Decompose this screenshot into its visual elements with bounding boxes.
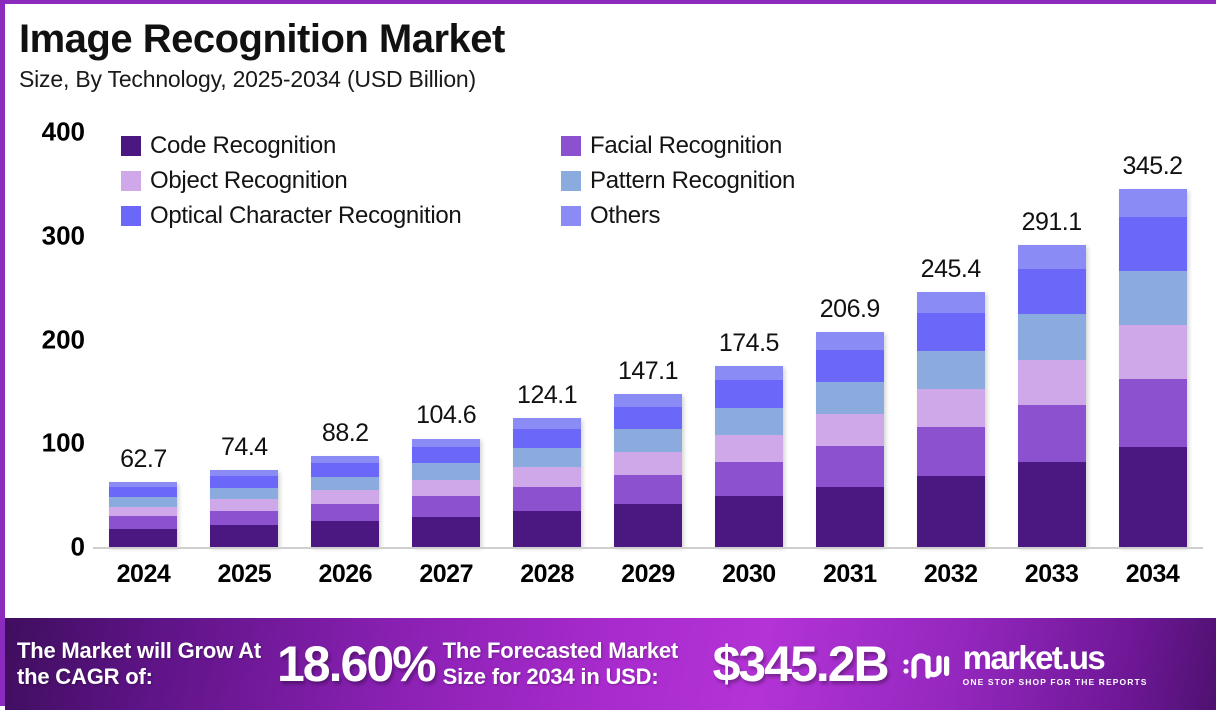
- bar-group[interactable]: 104.6: [397, 132, 496, 547]
- bar-segment[interactable]: [513, 448, 581, 467]
- chart-header: Image Recognition Market Size, By Techno…: [19, 18, 505, 93]
- chart-subtitle: Size, By Technology, 2025-2034 (USD Bill…: [19, 66, 505, 93]
- bar-segment[interactable]: [1018, 462, 1086, 547]
- bar-group[interactable]: 291.1: [1002, 132, 1101, 547]
- x-axis-tick-label: 2033: [1002, 560, 1101, 596]
- bar-total-label: 74.4: [221, 433, 268, 462]
- summary-banner: The Market will Grow At the CAGR of: 18.…: [5, 618, 1216, 710]
- bar-segment[interactable]: [614, 452, 682, 475]
- bar-stack[interactable]: [210, 470, 278, 547]
- bar-segment[interactable]: [816, 446, 884, 487]
- bar-group[interactable]: 245.4: [901, 132, 1000, 547]
- bar-stack[interactable]: [109, 482, 177, 547]
- bar-stack[interactable]: [412, 438, 480, 547]
- bar-segment[interactable]: [917, 427, 985, 475]
- bar-total-label: 124.1: [517, 381, 577, 410]
- bar-segment[interactable]: [917, 313, 985, 351]
- bar-segment[interactable]: [1119, 189, 1187, 218]
- bar-total-label: 206.9: [820, 295, 880, 324]
- bar-segment[interactable]: [513, 467, 581, 486]
- forecast-size-caption: The Forecasted Market Size for 2034 in U…: [443, 638, 711, 690]
- bar-stack[interactable]: [614, 394, 682, 547]
- x-axis: 2024202520262027202820292030203120322033…: [93, 560, 1203, 596]
- bar-segment[interactable]: [917, 351, 985, 389]
- bar-total-label: 62.7: [120, 445, 167, 474]
- bar-segment[interactable]: [816, 382, 884, 414]
- bar-segment[interactable]: [210, 511, 278, 526]
- bar-segment[interactable]: [513, 487, 581, 511]
- bar-segment[interactable]: [311, 456, 379, 463]
- bar-segment[interactable]: [1119, 379, 1187, 447]
- bar-total-label: 104.6: [416, 401, 476, 430]
- bar-segment[interactable]: [311, 477, 379, 491]
- bar-segment[interactable]: [412, 439, 480, 448]
- bar-group[interactable]: 62.7: [94, 132, 193, 547]
- bar-segment[interactable]: [513, 429, 581, 448]
- bar-segment[interactable]: [210, 499, 278, 511]
- bar-segment[interactable]: [614, 504, 682, 547]
- chart-frame: Image Recognition Market Size, By Techno…: [0, 0, 1216, 706]
- bar-group[interactable]: 206.9: [800, 132, 899, 547]
- bar-stack[interactable]: [816, 332, 884, 547]
- x-axis-tick-label: 2024: [94, 560, 193, 596]
- bar-segment[interactable]: [917, 389, 985, 427]
- bar-segment[interactable]: [1119, 447, 1187, 547]
- bar-total-label: 174.5: [719, 329, 779, 358]
- bar-segment[interactable]: [1018, 405, 1086, 462]
- brand-text: market.us ONE STOP SHOP FOR THE REPORTS: [963, 641, 1148, 687]
- y-axis-tick-label: 0: [71, 532, 85, 563]
- bar-segment[interactable]: [816, 332, 884, 349]
- y-axis-tick-label: 200: [42, 324, 85, 355]
- bar-segment[interactable]: [816, 350, 884, 382]
- bar-segment[interactable]: [715, 435, 783, 462]
- bar-segment[interactable]: [715, 462, 783, 496]
- bar-stack[interactable]: [917, 292, 985, 547]
- bar-segment[interactable]: [1018, 245, 1086, 269]
- x-axis-tick-label: 2026: [296, 560, 395, 596]
- bar-segment[interactable]: [412, 447, 480, 463]
- bar-group[interactable]: 124.1: [498, 132, 597, 547]
- x-axis-tick-label: 2032: [901, 560, 1000, 596]
- bar-segment[interactable]: [1119, 325, 1187, 379]
- bar-segment[interactable]: [614, 429, 682, 452]
- page-title: Image Recognition Market: [19, 18, 505, 60]
- x-axis-tick-label: 2029: [598, 560, 697, 596]
- bar-segment[interactable]: [311, 504, 379, 521]
- bar-stack[interactable]: [311, 456, 379, 548]
- bar-group[interactable]: 174.5: [699, 132, 798, 547]
- bar-segment[interactable]: [412, 463, 480, 479]
- bar-total-label: 291.1: [1022, 208, 1082, 237]
- bar-stack[interactable]: [513, 418, 581, 547]
- cagr-value: 18.60%: [277, 635, 435, 693]
- bar-segment[interactable]: [109, 529, 177, 547]
- brand-tagline: ONE STOP SHOP FOR THE REPORTS: [963, 677, 1148, 687]
- bar-segment[interactable]: [109, 487, 177, 497]
- bar-segment[interactable]: [614, 475, 682, 504]
- brand-logo: market.us ONE STOP SHOP FOR THE REPORTS: [902, 641, 1148, 687]
- x-axis-tick-label: 2027: [397, 560, 496, 596]
- bar-segment[interactable]: [412, 517, 480, 547]
- bar-segment[interactable]: [614, 394, 682, 406]
- y-axis-tick-label: 100: [42, 428, 85, 459]
- x-axis-tick-label: 2031: [800, 560, 899, 596]
- bar-segment[interactable]: [1119, 271, 1187, 325]
- bar-total-label: 88.2: [322, 419, 369, 448]
- bar-group[interactable]: 147.1: [598, 132, 697, 547]
- bar-segment[interactable]: [816, 414, 884, 446]
- bar-segment[interactable]: [210, 476, 278, 488]
- x-axis-tick-label: 2034: [1103, 560, 1202, 596]
- bar-segment[interactable]: [412, 480, 480, 496]
- bar-group[interactable]: 345.2: [1103, 132, 1202, 547]
- bar-segment[interactable]: [715, 408, 783, 435]
- bar-segment[interactable]: [109, 507, 177, 517]
- bar-segment[interactable]: [109, 516, 177, 528]
- x-axis-tick-label: 2030: [699, 560, 798, 596]
- bar-segment[interactable]: [311, 521, 379, 547]
- bar-segment[interactable]: [917, 476, 985, 547]
- bar-stack[interactable]: [715, 366, 783, 547]
- bar-total-label: 147.1: [618, 357, 678, 386]
- bar-group[interactable]: 88.2: [296, 132, 395, 547]
- bar-segment[interactable]: [513, 418, 581, 428]
- bar-stack[interactable]: [1119, 189, 1187, 547]
- bar-total-label: 345.2: [1122, 152, 1182, 181]
- bar-segment[interactable]: [109, 497, 177, 507]
- bar-stack[interactable]: [1018, 245, 1086, 547]
- y-axis-tick-label: 400: [42, 117, 85, 148]
- brand-name: market.us: [963, 641, 1148, 674]
- bar-segment[interactable]: [715, 380, 783, 407]
- bar-segment[interactable]: [715, 496, 783, 547]
- bar-segment[interactable]: [1119, 217, 1187, 271]
- bar-segment[interactable]: [614, 407, 682, 430]
- x-axis-line: [93, 547, 1203, 549]
- bar-segment[interactable]: [1018, 269, 1086, 314]
- y-axis-tick-label: 300: [42, 220, 85, 251]
- forecast-size-value: $345.2B: [713, 635, 888, 693]
- bar-segment[interactable]: [311, 490, 379, 504]
- market-us-logo-icon: [902, 646, 954, 682]
- bar-segment[interactable]: [210, 488, 278, 500]
- bar-segment[interactable]: [816, 487, 884, 547]
- bar-total-label: 245.4: [921, 255, 981, 284]
- bar-series-container: 62.774.488.2104.6124.1147.1174.5206.9245…: [93, 132, 1203, 547]
- bar-segment[interactable]: [1018, 314, 1086, 359]
- y-axis: 0100200300400: [15, 132, 85, 549]
- bar-segment[interactable]: [1018, 360, 1086, 405]
- x-axis-tick-label: 2025: [195, 560, 294, 596]
- bar-segment[interactable]: [311, 463, 379, 477]
- bar-segment[interactable]: [917, 292, 985, 312]
- bar-segment[interactable]: [513, 511, 581, 547]
- bar-segment[interactable]: [715, 366, 783, 380]
- bar-segment[interactable]: [210, 525, 278, 547]
- bar-segment[interactable]: [412, 496, 480, 517]
- plot-area: 62.774.488.2104.6124.1147.1174.5206.9245…: [93, 132, 1203, 549]
- cagr-caption: The Market will Grow At the CAGR of:: [17, 638, 275, 690]
- x-axis-tick-label: 2028: [498, 560, 597, 596]
- bar-group[interactable]: 74.4: [195, 132, 294, 547]
